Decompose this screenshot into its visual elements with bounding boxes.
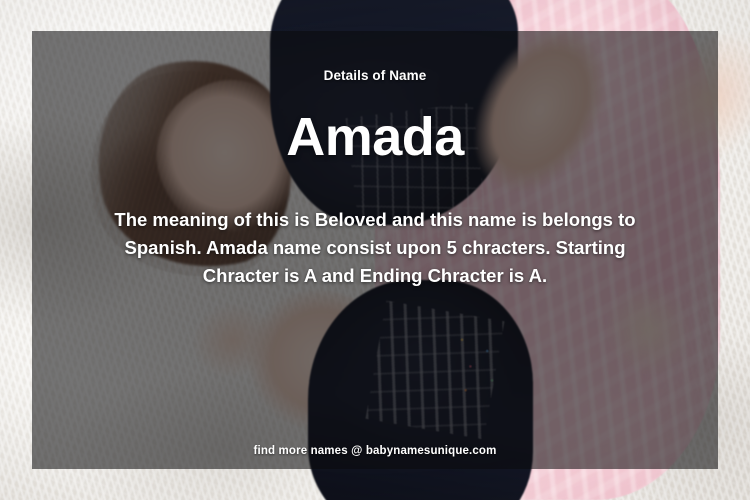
details-overlay-card: Details of Name Amada The meaning of thi… bbox=[32, 31, 718, 469]
card-kicker-label: Details of Name bbox=[324, 68, 427, 84]
footer-attribution: find more names @ babynamesunique.com bbox=[32, 445, 718, 457]
name-description: The meaning of this is Beloved and this … bbox=[97, 206, 653, 290]
name-title: Amada bbox=[286, 110, 464, 164]
name-card-screenshot: Details of Name Amada The meaning of thi… bbox=[0, 0, 750, 500]
